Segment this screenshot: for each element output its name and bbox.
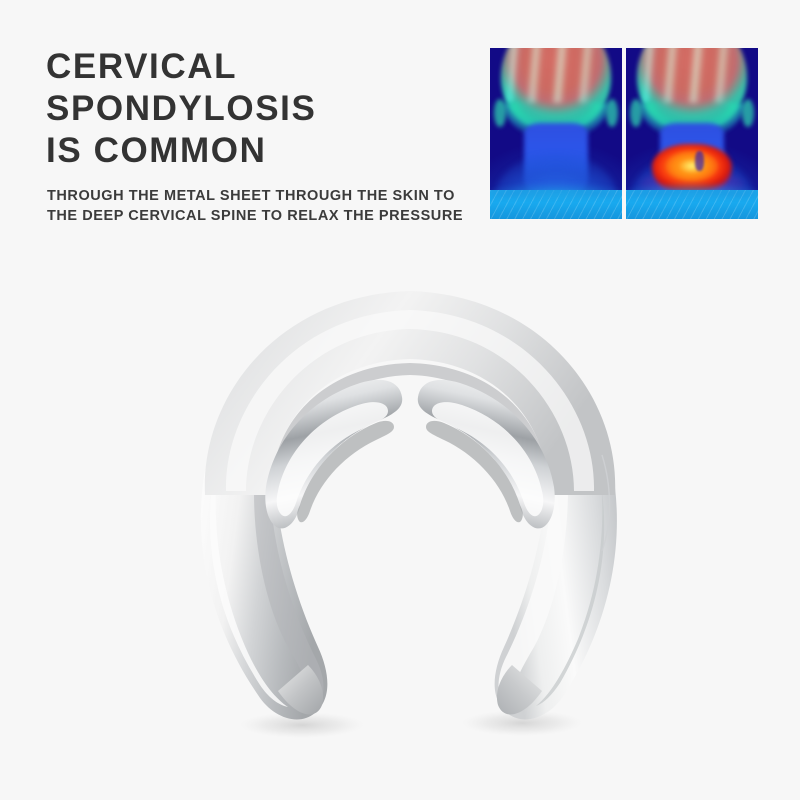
product-image-neck-massager [150,255,670,775]
device-outer-band [205,291,615,495]
thermal-image-before [490,48,622,219]
page-title: CERVICAL SPONDYLOSIS IS COMMON [46,46,476,172]
thermal-comparison-images [490,48,758,219]
thermal-ear-right [606,99,618,126]
subtitle-text: THROUGH THE METAL SHEET THROUGH THE SKIN… [47,186,477,226]
thermal-shirt-band [626,190,758,219]
thermal-hair-strands [506,48,606,103]
thermal-hair-strands [642,48,742,103]
thermal-ear-left [494,99,506,126]
thermal-shirt-band [490,190,622,219]
thermal-ear-right [742,99,754,126]
thermal-ear-left [630,99,642,126]
thermal-hot-zone-speck [695,151,704,172]
thermal-image-after [626,48,758,219]
product-banner: CERVICAL SPONDYLOSIS IS COMMON THROUGH T… [0,0,800,800]
